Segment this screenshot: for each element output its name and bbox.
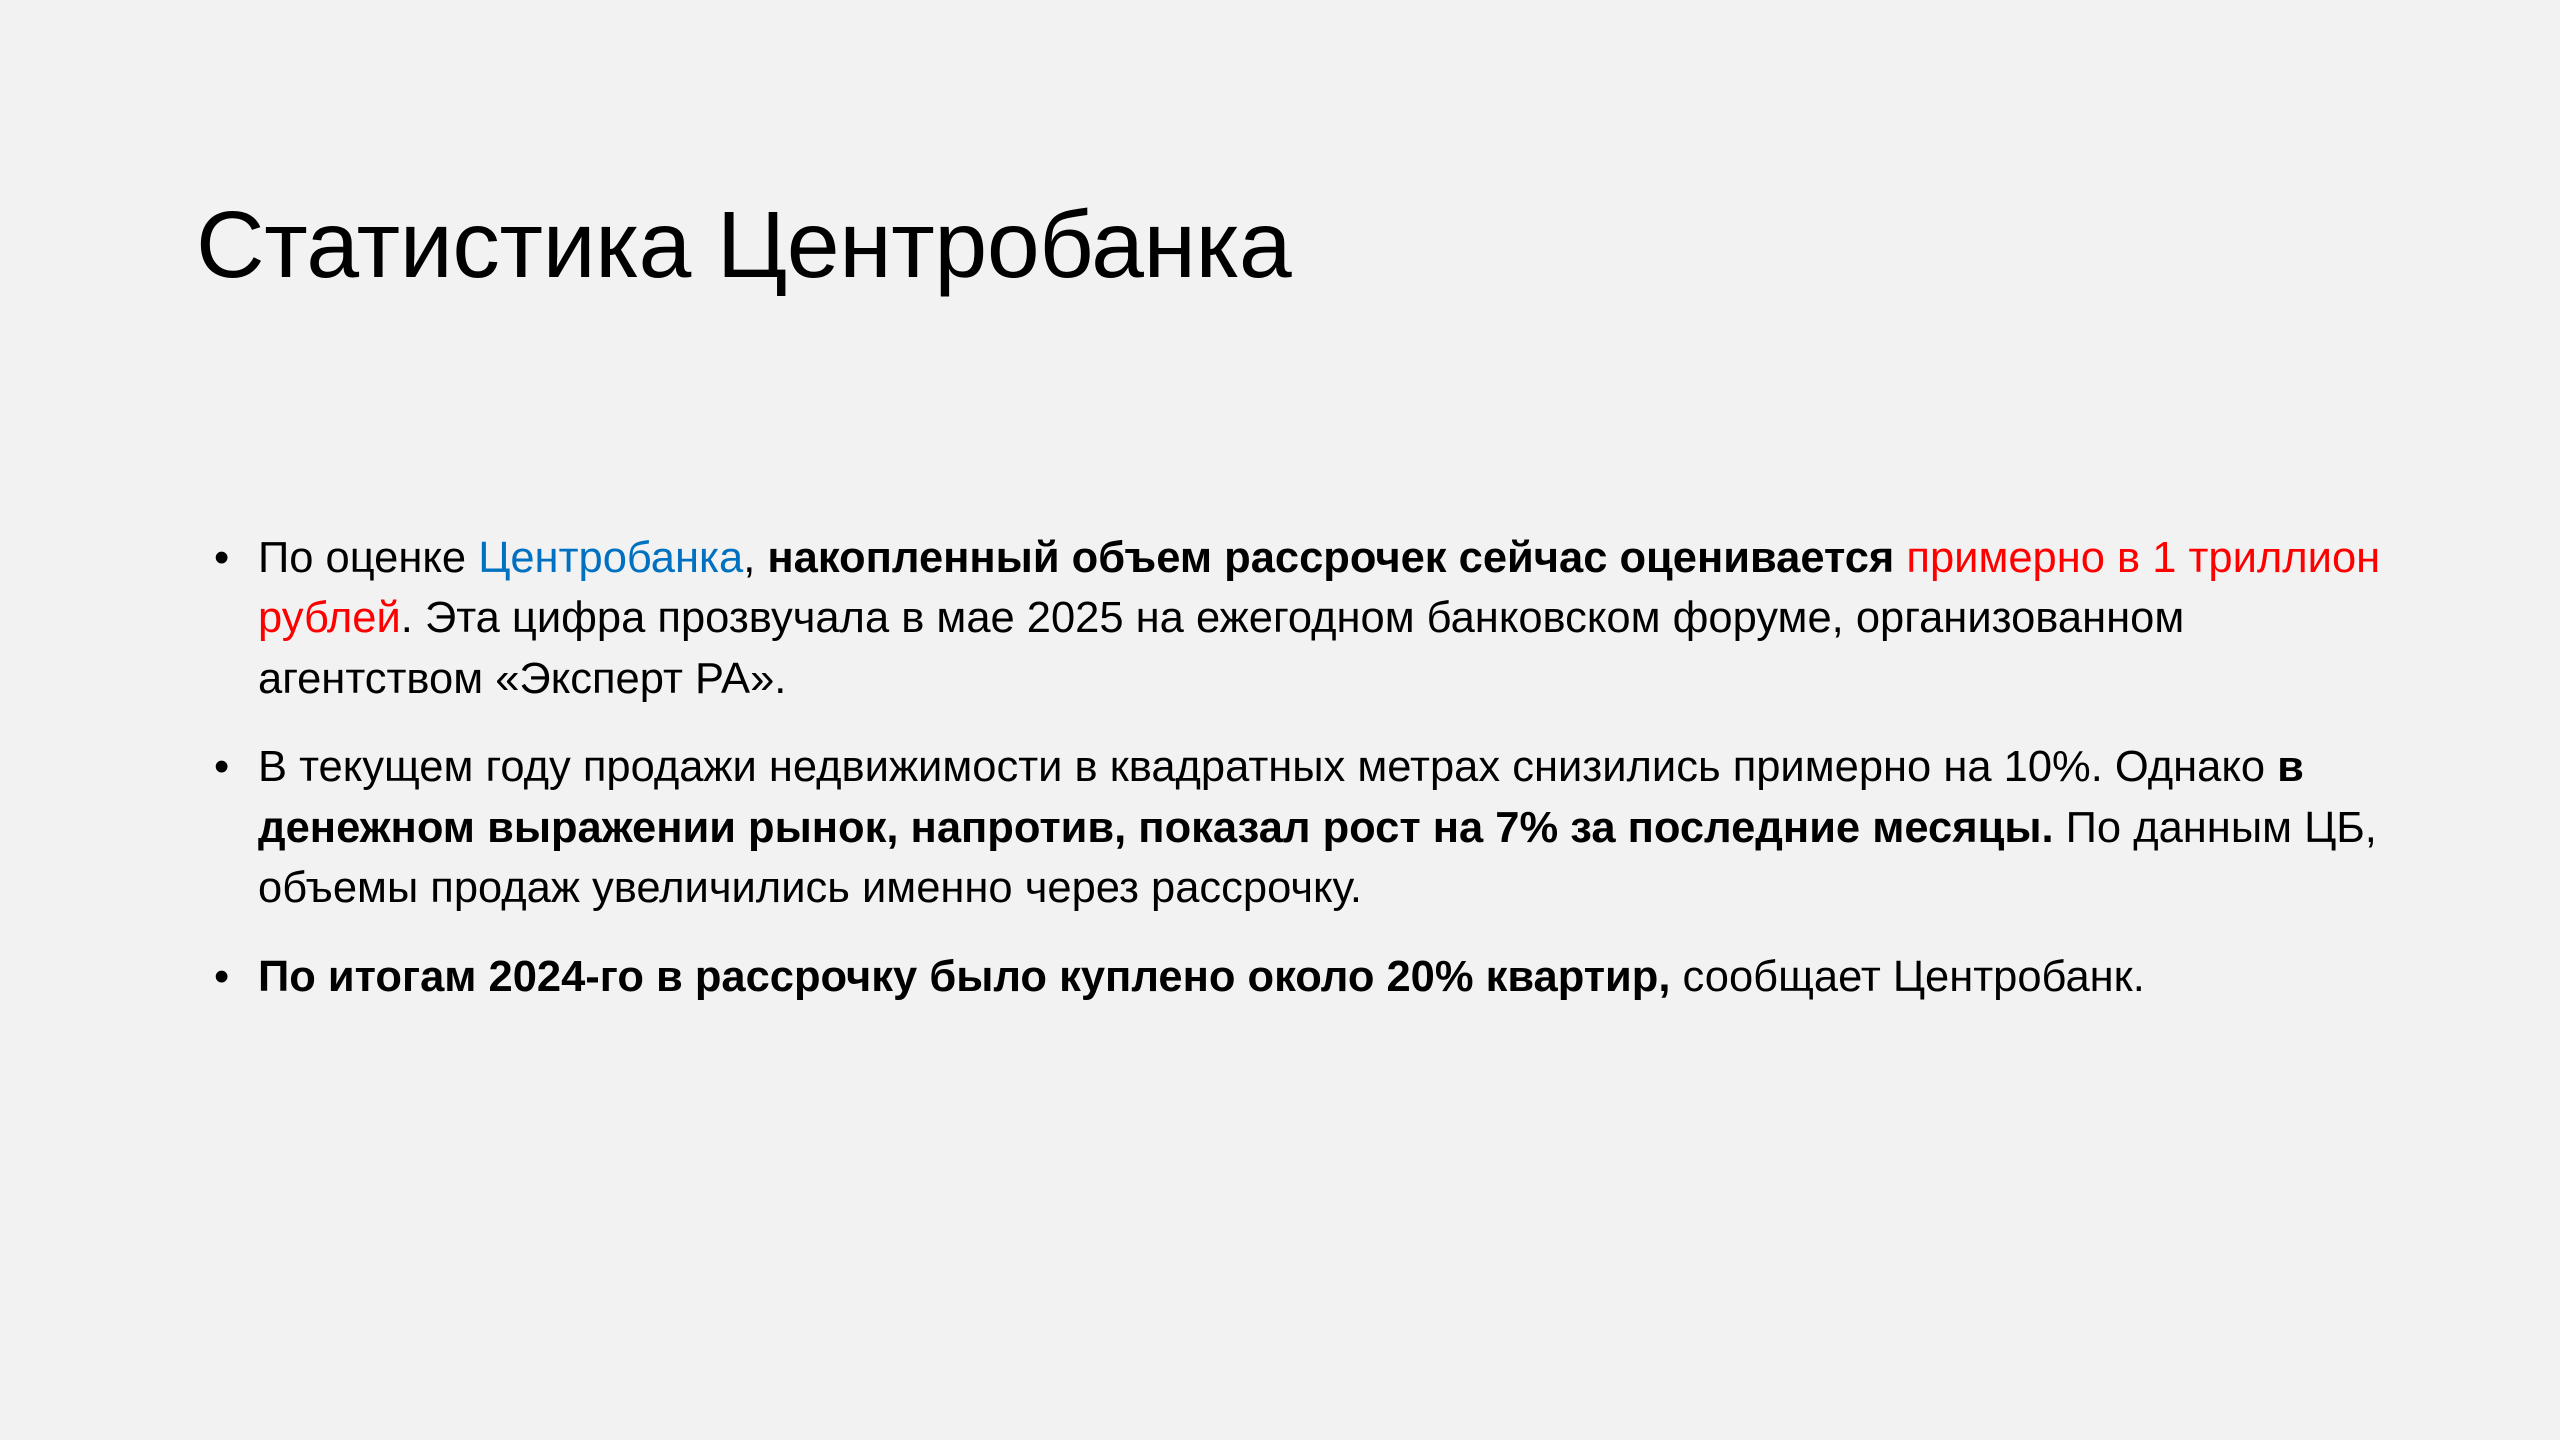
text-run: накопленный объем рассрочек сейчас оцени… xyxy=(767,534,1906,582)
text-run: По оценке xyxy=(258,534,478,582)
text-run: Центробанка xyxy=(478,534,743,582)
text-run: В текущем году продажи недвижимости в кв… xyxy=(258,743,2277,791)
bullet-list: • По оценке Центробанка, накопленный объ… xyxy=(200,528,2410,1007)
text-run: сообщает Центробанк. xyxy=(1670,953,2144,1001)
list-item: • По итогам 2024-го в рассрочку было куп… xyxy=(200,947,2410,1007)
bullet-marker-icon: • xyxy=(214,737,229,797)
bullet-marker-icon: • xyxy=(214,947,229,1007)
list-item-text: По оценке Центробанка, накопленный объем… xyxy=(258,528,2410,709)
page-title: Статистика Центробанка xyxy=(196,192,2376,298)
list-item: • По оценке Центробанка, накопленный объ… xyxy=(200,528,2410,709)
slide-canvas: Статистика Центробанка • По оценке Центр… xyxy=(0,0,2560,1440)
list-item-text: В текущем году продажи недвижимости в кв… xyxy=(258,737,2410,918)
bullet-marker-icon: • xyxy=(214,528,229,588)
list-item-text: По итогам 2024-го в рассрочку было купле… xyxy=(258,947,2410,1007)
text-run: , xyxy=(743,534,767,582)
text-run: . Эта цифра прозвучала в мае 2025 на еже… xyxy=(258,594,2184,702)
text-run: По итогам 2024-го в рассрочку было купле… xyxy=(258,953,1670,1001)
list-item: • В текущем году продажи недвижимости в … xyxy=(200,737,2410,918)
